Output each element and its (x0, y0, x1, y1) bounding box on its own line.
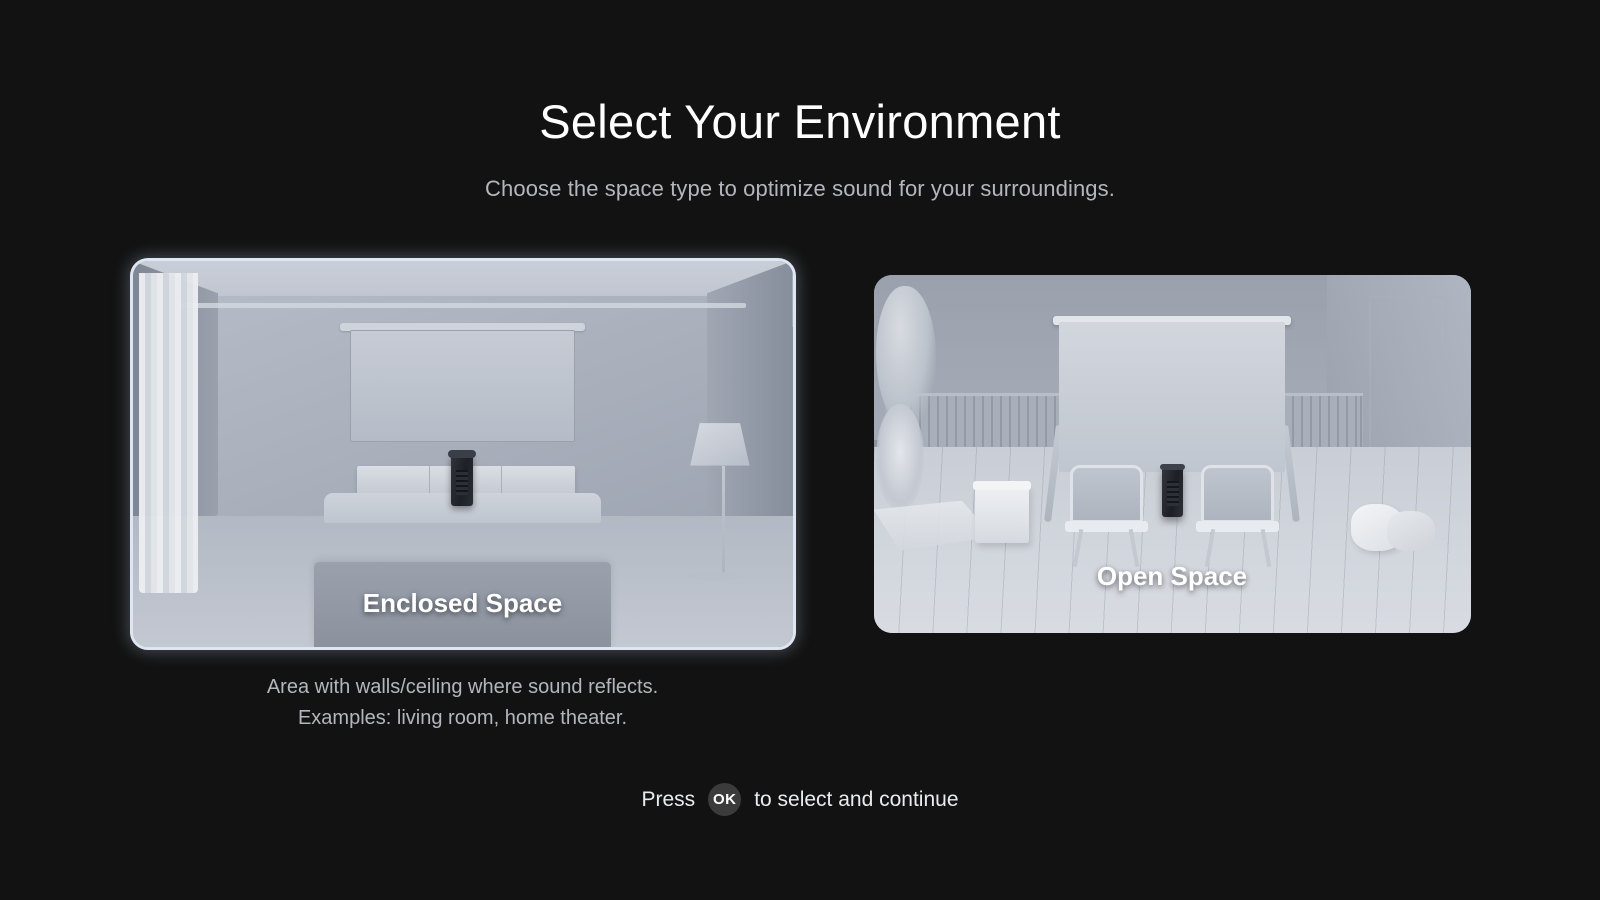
open-space-caption: Open Space (874, 561, 1471, 592)
ceiling-cornice (179, 303, 747, 308)
cooler-box (975, 486, 1029, 543)
press-label: Press (642, 788, 696, 812)
action-label: to select and continue (754, 788, 958, 812)
description-line-1: Area with walls/ceiling where sound refl… (130, 672, 796, 703)
floor-lamp-shade (690, 423, 749, 465)
enclosed-space-caption: Enclosed Space (133, 588, 793, 619)
environment-options: Enclosed Space Area with walls/ceiling w… (0, 258, 1600, 734)
description-line-2: Examples: living room, home theater. (130, 703, 796, 734)
floor-pillow-2 (1387, 511, 1435, 550)
footer-hint: Press OK to select and continue (0, 783, 1600, 816)
page-title: Select Your Environment (0, 96, 1600, 148)
environment-selection-screen: Select Your Environment Choose the space… (0, 0, 1600, 900)
open-space-card[interactable]: Open Space (874, 275, 1471, 633)
plant-lower (876, 404, 924, 511)
option-enclosed-space[interactable]: Enclosed Space Area with walls/ceiling w… (130, 258, 796, 734)
lawn-chair-left (1065, 465, 1149, 565)
header: Select Your Environment Choose the space… (0, 96, 1600, 202)
window-curtain (139, 273, 198, 593)
page-subtitle: Choose the space type to optimize sound … (0, 176, 1600, 202)
ok-key-badge[interactable]: OK (708, 783, 741, 816)
floor-lamp-pole (722, 466, 725, 574)
enclosed-space-card[interactable]: Enclosed Space (130, 258, 796, 650)
enclosed-space-description: Area with walls/ceiling where sound refl… (130, 672, 796, 734)
projector-screen (350, 330, 574, 442)
portable-speaker-icon (451, 454, 473, 506)
option-open-space[interactable]: Open Space (874, 258, 1471, 655)
portable-speaker-icon (1162, 467, 1183, 517)
outdoor-projector-screen (1059, 322, 1286, 472)
floor-lamp-base (687, 572, 743, 581)
lawn-chair-right (1196, 465, 1280, 565)
